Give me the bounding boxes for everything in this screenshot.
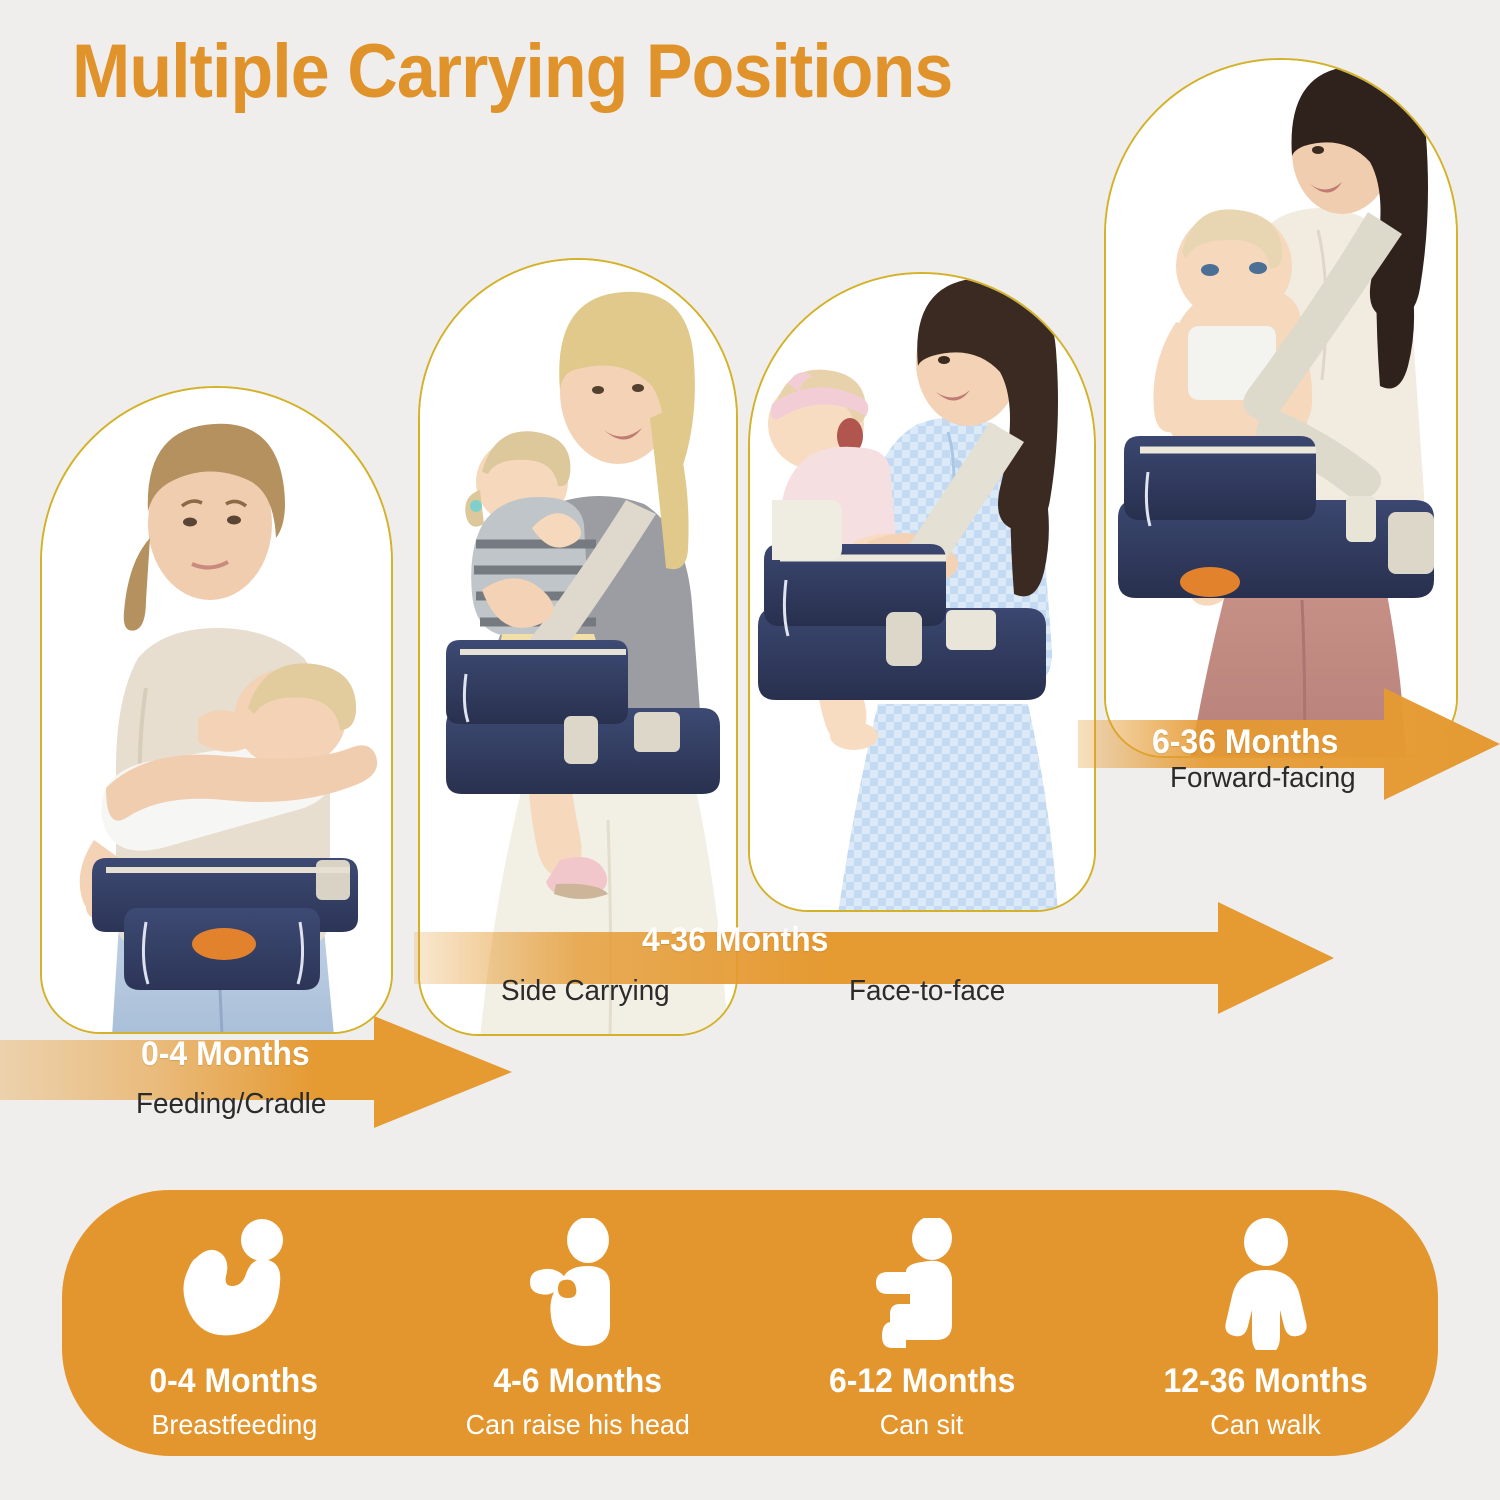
milestone-bar: 0-4 Months Breastfeeding 4-6 Months Can … xyxy=(62,1190,1438,1456)
photo-face-to-face xyxy=(750,274,1094,910)
page-title: Multiple Carrying Positions xyxy=(72,34,952,110)
milestone-age: 12-36 Months xyxy=(1164,1362,1368,1401)
arrow-6-36-age-label: 6-36 Months xyxy=(1152,723,1338,762)
baby-standing-icon xyxy=(1206,1218,1326,1350)
arrow-4-36-position-label-side: Side Carrying xyxy=(501,975,670,1008)
milestone-ability: Can sit xyxy=(880,1409,964,1441)
milestone-age: 6-12 Months xyxy=(829,1362,1015,1401)
milestone-age: 0-4 Months xyxy=(150,1362,319,1401)
arrow-0-4-age-label: 0-4 Months xyxy=(141,1035,310,1074)
arrow-4-36-position-label-face: Face-to-face xyxy=(849,975,1005,1008)
infographic-root: Multiple Carrying Positions xyxy=(0,0,1500,1500)
baby-crawling-icon xyxy=(518,1218,638,1350)
milestone-ability: Can raise his head xyxy=(466,1409,690,1441)
milestone-0-4-months: 0-4 Months Breastfeeding xyxy=(62,1190,406,1441)
photo-feeding-cradle xyxy=(42,388,391,1032)
arrow-0-4-position-label: Feeding/Cradle xyxy=(136,1088,326,1121)
milestone-ability: Can walk xyxy=(1211,1409,1322,1441)
photo-frame-forward-facing xyxy=(1104,58,1458,758)
milestone-ability: Breastfeeding xyxy=(151,1409,317,1441)
photo-forward-facing xyxy=(1106,60,1456,756)
photo-frame-feeding-cradle xyxy=(40,386,393,1034)
milestone-list: 0-4 Months Breastfeeding 4-6 Months Can … xyxy=(62,1190,1438,1456)
milestone-age: 4-6 Months xyxy=(494,1362,663,1401)
baby-lying-icon xyxy=(174,1218,294,1350)
arrow-6-36-position-label: Forward-facing xyxy=(1170,762,1356,795)
milestone-12-36-months: 12-36 Months Can walk xyxy=(1094,1190,1438,1441)
baby-sitting-icon xyxy=(862,1218,982,1350)
photo-frame-face-to-face xyxy=(748,272,1096,912)
milestone-6-12-months: 6-12 Months Can sit xyxy=(750,1190,1094,1441)
milestone-4-6-months: 4-6 Months Can raise his head xyxy=(406,1190,750,1441)
arrow-4-36-age-label: 4-36 Months xyxy=(642,921,828,960)
